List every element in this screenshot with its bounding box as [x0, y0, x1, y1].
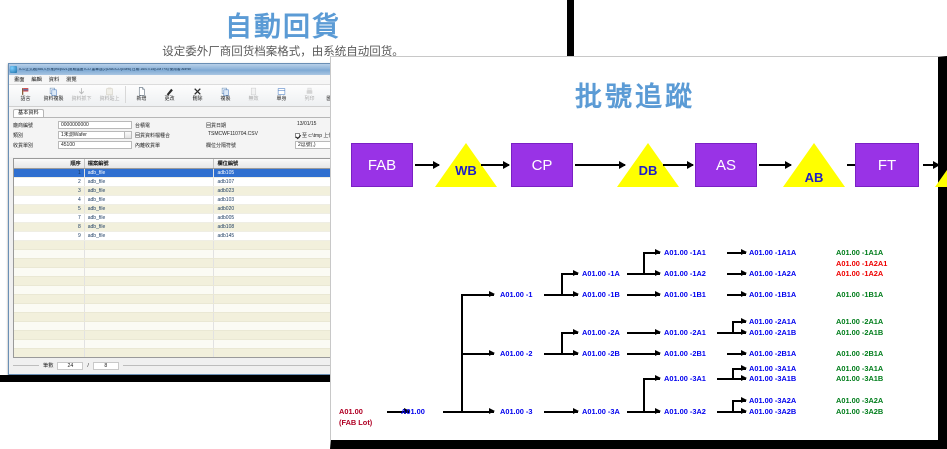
right-slide-panel: 批號追蹤 FAB WB CP DB AS AB FT FNG	[330, 56, 947, 449]
col-field-no[interactable]: 欄位編號	[214, 159, 344, 168]
cell-empty	[14, 321, 84, 330]
cell-field-no: adb103	[214, 195, 344, 204]
tree-node-l4-1A2A: A01.00 -1A2A	[749, 269, 796, 278]
tree-edge-2A1A	[732, 321, 746, 323]
tree-node-f-1A1A: A01.00 -1A1A	[836, 248, 883, 257]
cell-empty	[214, 294, 344, 303]
cell-empty	[214, 330, 344, 339]
flow-arrow-4	[663, 164, 693, 166]
tree-edge-3A2	[643, 411, 660, 413]
tree-edge-1A1A	[727, 252, 746, 254]
tree-node-l2-3A: A01.00 -3A	[582, 407, 620, 416]
tree-node-root: A01.00	[339, 407, 363, 416]
label-recv-type: 收貨單別	[13, 142, 55, 149]
cell-seq: 7	[14, 213, 84, 222]
cell-empty	[214, 321, 344, 330]
delete-x-icon	[193, 87, 202, 96]
data-down-icon	[77, 87, 86, 96]
toolbar-label: 刪除	[192, 97, 202, 102]
tree-edge-1-in	[544, 294, 562, 296]
toolbar-button-print[interactable]: 列印	[296, 86, 323, 102]
tree-node-f-2B1A: A01.00 -2B1A	[836, 349, 883, 358]
tree-edge-2A1	[627, 332, 660, 334]
flow-step-fab: FAB	[351, 143, 413, 187]
tree-node-f-3A1B: A01.00 -3A1B	[836, 374, 883, 383]
status-total-records: 8	[93, 362, 119, 370]
tree-node-f-1A2A1: A01.00 -1A2A1	[836, 259, 887, 268]
col-seq[interactable]: 順序	[14, 159, 84, 168]
tree-node-l3-1B1: A01.00 -1B1	[664, 290, 706, 299]
tree-node-l3-3A1: A01.00 -3A1	[664, 374, 706, 383]
tree-edge-3A2A	[732, 400, 746, 402]
tree-edge-l1-1	[461, 294, 494, 296]
flag-icon	[21, 87, 30, 96]
cell-file-no: adb_file	[84, 186, 214, 195]
cell-empty	[214, 258, 344, 267]
tree-node-l1-3: A01.00 -3	[500, 407, 532, 416]
detail-icon	[277, 87, 286, 96]
tree-node-l3-1A1: A01.00 -1A1	[664, 248, 706, 257]
tree-fork-2A1	[732, 321, 734, 332]
tree-edge-3A	[544, 411, 578, 413]
input-vendor-no[interactable]: 0000000000	[58, 121, 132, 129]
tree-node-l1-1: A01.00 -1	[500, 290, 532, 299]
void-icon	[249, 87, 258, 96]
tree-edge-2-in	[544, 353, 562, 355]
menu-item-screen[interactable]: 畫面	[14, 76, 24, 83]
cell-field-no: adb020	[214, 204, 344, 213]
label-category: 類別	[13, 132, 55, 139]
cell-empty	[84, 321, 214, 330]
label-inner-recv: 內離收貨單	[135, 142, 203, 149]
checkbox-label: 至 c:\tmp 上傳	[302, 132, 333, 139]
toolbar-button-copy-data[interactable]: 資料複製	[40, 86, 67, 102]
cell-file-no: adb_file	[84, 168, 214, 177]
edit-pencil-icon	[165, 87, 174, 96]
status-count-label: 筆數	[43, 362, 53, 369]
chevron-down-icon[interactable]	[124, 132, 131, 138]
toolbar-button-data-down[interactable]: 資料抓下	[68, 86, 95, 102]
cell-empty	[214, 312, 344, 321]
label-return-date: 回貨日期	[206, 122, 292, 129]
toolbar-button-edit[interactable]: 更改	[156, 86, 183, 102]
tree-node-l3-2B1: A01.00 -2B1	[664, 349, 706, 358]
cell-file-no: adb_file	[84, 231, 214, 240]
toolbar-label: 複製	[220, 97, 230, 102]
cell-empty	[84, 348, 214, 357]
tab-basic-data[interactable]: 基本資料	[13, 109, 44, 117]
tree-node-l2-1A: A01.00 -1A	[582, 269, 620, 278]
tree-edge-1B	[561, 294, 578, 296]
cell-empty	[214, 276, 344, 285]
cell-seq: 8	[14, 222, 84, 231]
tree-edge-l1-2	[461, 353, 494, 355]
cell-empty	[14, 276, 84, 285]
tree-edge-2A1B	[732, 332, 746, 334]
cell-empty	[84, 357, 214, 358]
tree-node-l4-2B1A: A01.00 -2B1A	[749, 349, 796, 358]
tree-edge-1B1	[627, 294, 660, 296]
cell-empty	[84, 267, 214, 276]
tree-node-l2-2A: A01.00 -2A	[582, 328, 620, 337]
flow-step-ab: AB	[783, 170, 845, 185]
input-recv-type[interactable]: 45100	[58, 141, 132, 149]
tree-edge-1B1A	[727, 294, 746, 296]
tree-node-f-3A2A: A01.00 -3A2A	[836, 396, 883, 405]
toolbar-label: 語言	[20, 97, 30, 102]
cell-empty	[84, 240, 214, 249]
tree-node-f-2A1A: A01.00 -2A1A	[836, 317, 883, 326]
cell-empty	[214, 285, 344, 294]
cell-seq: 5	[14, 204, 84, 213]
left-slide-title: 自動回貨	[0, 5, 566, 44]
new-doc-icon	[137, 87, 146, 96]
cell-empty	[14, 303, 84, 312]
cell-file-no: adb_file	[84, 222, 214, 231]
tree-fork-1	[561, 273, 563, 295]
cell-empty	[84, 258, 214, 267]
cell-field-no: adb105	[214, 168, 344, 177]
cell-seq: 4	[14, 195, 84, 204]
tree-fork-3A2	[732, 400, 734, 411]
tree-node-l2-1B: A01.00 -1B	[582, 290, 620, 299]
label-file-name: 回貨資料檔種合	[135, 132, 203, 139]
app-icon	[10, 66, 17, 73]
tree-node-l3-1A2: A01.00 -1A2	[664, 269, 706, 278]
tree-edge-2A1-in	[717, 332, 733, 334]
tree-fork-3A	[643, 378, 645, 411]
tree-node-f-3A2B: A01.00 -3A2B	[836, 407, 883, 416]
status-current-record: 24	[57, 362, 83, 370]
tree-edge-trunk-in	[443, 411, 463, 413]
cell-seq: 3	[14, 186, 84, 195]
cell-empty	[84, 312, 214, 321]
tree-node-l0: A01.00	[401, 407, 425, 416]
tree-edge-3A2B	[732, 411, 746, 413]
process-flow-diagram: FAB WB CP DB AS AB FT	[351, 143, 939, 197]
cell-empty	[214, 339, 344, 348]
tree-edge-3A1-in	[717, 378, 733, 380]
tree-node-l4-3A1A: A01.00 -3A1A	[749, 364, 796, 373]
tree-node-l3-3A2: A01.00 -3A2	[664, 407, 706, 416]
tree-node-f-3A1A: A01.00 -3A1A	[836, 364, 883, 373]
tree-node-f-2A1B: A01.00 -2A1B	[836, 328, 883, 337]
window-title-text: ICO正式版(x86人作業)eicp021(常期溫度 ICO 重單及(2)D58…	[19, 68, 191, 72]
cell-empty	[14, 348, 84, 357]
toolbar-label: 資料貼上	[99, 97, 119, 102]
status-rule-left	[13, 365, 39, 366]
input-file-name[interactable]: TSMCWF110704.CSV	[206, 131, 292, 139]
cell-file-no: adb_file	[84, 204, 214, 213]
tree-edge-2A	[561, 332, 578, 334]
tree-edge-3A1A	[732, 368, 746, 370]
tree-node-l4-3A2A: A01.00 -3A2A	[749, 396, 796, 405]
cell-empty	[14, 285, 84, 294]
cell-empty	[14, 312, 84, 321]
label-vendor-name: 台積電	[135, 122, 203, 129]
cell-empty	[214, 348, 344, 357]
tree-edge-3A1	[643, 378, 660, 380]
tree-edge-2B1A	[727, 353, 746, 355]
cell-empty	[214, 240, 344, 249]
label-vendor-no: 廠商編號	[13, 122, 55, 129]
cell-empty	[14, 258, 84, 267]
toolbar-label: 更改	[164, 97, 174, 102]
toolbar-button-delete[interactable]: 刪除	[184, 86, 211, 102]
cell-empty	[84, 276, 214, 285]
tree-node-l4-2A1B: A01.00 -2A1B	[749, 328, 796, 337]
toolbar-label: 新增	[136, 97, 146, 102]
cell-empty	[84, 330, 214, 339]
cell-seq: 1	[14, 168, 84, 177]
tree-node-f-1A2A: A01.00 -1A2A	[836, 269, 883, 278]
input-category[interactable]: 1未測Wafer	[58, 131, 132, 139]
toolbar-button-void[interactable]: 無效	[240, 86, 267, 102]
cell-empty	[14, 267, 84, 276]
tree-node-l4-3A1B: A01.00 -3A1B	[749, 374, 796, 383]
menu-item-browse[interactable]: 瀏覽	[66, 76, 76, 83]
tree-edge-l1-3	[461, 411, 494, 413]
cell-empty	[84, 303, 214, 312]
tree-edge-3A2-in	[717, 411, 733, 413]
tree-edge-1A2A	[727, 273, 746, 275]
tree-node-l4-1B1A: A01.00 -1B1A	[749, 290, 796, 299]
cell-file-no: adb_file	[84, 195, 214, 204]
flow-step-ft: FT	[855, 143, 919, 187]
print-icon	[305, 87, 314, 96]
tree-edge-1A-in	[627, 273, 644, 275]
menu-item-edit[interactable]: 編輯	[31, 76, 41, 83]
tree-edge-1A1	[643, 252, 660, 254]
cell-field-no: adb023	[214, 186, 344, 195]
tree-node-l4-2A1A: A01.00 -2A1A	[749, 317, 796, 326]
cell-empty	[14, 357, 84, 358]
cell-empty	[214, 267, 344, 276]
toolbar-label: 資料複製	[43, 97, 63, 102]
tree-node-l2-2B: A01.00 -2B	[582, 349, 620, 358]
toolbar-label: 列印	[304, 97, 314, 102]
toolbar-label: 無效	[248, 97, 258, 102]
tree-edge-3A1B	[732, 378, 746, 380]
status-separator: /	[87, 363, 88, 369]
copy-data-icon	[49, 87, 58, 96]
tree-edge-1A	[561, 273, 578, 275]
cell-field-no: adb005	[214, 213, 344, 222]
cell-file-no: adb_file	[84, 177, 214, 186]
cell-seq: 2	[14, 177, 84, 186]
screenshot-root: 自動回貨 设定委外厂商回货档案格式，由系统自动回货。 ICO正式版(x86人作業…	[0, 0, 947, 449]
cell-empty	[214, 357, 344, 358]
tree-node-l4-1A1A: A01.00 -1A1A	[749, 248, 796, 257]
cell-field-no: adb107	[214, 177, 344, 186]
tree-node-l3-2A1: A01.00 -2A1	[664, 328, 706, 337]
tree-edge-2B1	[627, 353, 660, 355]
tree-node-l1-2: A01.00 -2	[500, 349, 532, 358]
cell-empty	[214, 249, 344, 258]
toolbar-button-language[interactable]: 語言	[12, 86, 39, 102]
data-paste-icon	[105, 87, 114, 96]
cell-empty	[84, 294, 214, 303]
label-separator: 欄位分隔符號	[206, 142, 292, 149]
tree-edge-1A2	[643, 273, 660, 275]
tree-node-root-sub: (FAB Lot)	[339, 418, 372, 427]
tree-fork-1A	[643, 252, 645, 274]
cell-empty	[14, 330, 84, 339]
right-slide-title: 批號追蹤	[331, 75, 939, 114]
cell-empty	[14, 249, 84, 258]
cell-empty	[14, 294, 84, 303]
cell-field-no: adb145	[214, 231, 344, 240]
toolbar-button-data-paste[interactable]: 資料貼上	[96, 86, 123, 102]
toolbar-button-copy[interactable]: 複製	[212, 86, 239, 102]
flow-step-cp: CP	[511, 143, 573, 187]
cell-file-no: adb_file	[84, 213, 214, 222]
toolbar-button-new[interactable]: 新增	[128, 86, 155, 102]
cell-seq: 9	[14, 231, 84, 240]
flow-step-as: AS	[695, 143, 757, 187]
menu-item-data[interactable]: 資料	[49, 76, 59, 83]
tree-node-f-1B1A: A01.00 -1B1A	[836, 290, 883, 299]
tree-edge-2B	[561, 353, 578, 355]
toolbar-separator	[125, 86, 126, 103]
cell-empty	[84, 339, 214, 348]
cell-empty	[84, 249, 214, 258]
cell-empty	[84, 285, 214, 294]
flow-tail-fng: FNG	[923, 143, 947, 197]
tree-edge-3A-in	[627, 411, 644, 413]
cell-empty	[14, 339, 84, 348]
toolbar-button-detail[interactable]: 單身	[268, 86, 295, 102]
flow-step-fng: FNG	[935, 170, 947, 182]
toolbar-label: 單身	[276, 97, 286, 102]
copy-icon	[221, 87, 230, 96]
flow-arrow-2	[481, 164, 509, 166]
lot-genealogy-tree: A01.00(FAB Lot)A01.00A01.00 -1A01.00 -2A…	[339, 207, 939, 437]
checkbox-box[interactable]	[295, 133, 300, 138]
toolbar-label: 資料抓下	[71, 97, 91, 102]
cell-field-no: adb108	[214, 222, 344, 231]
tree-fork-2	[561, 332, 563, 354]
tree-node-l4-3A2B: A01.00 -3A2B	[749, 407, 796, 416]
cell-empty	[214, 303, 344, 312]
cell-empty	[14, 240, 84, 249]
col-file-no[interactable]: 檔案編號	[84, 159, 214, 168]
